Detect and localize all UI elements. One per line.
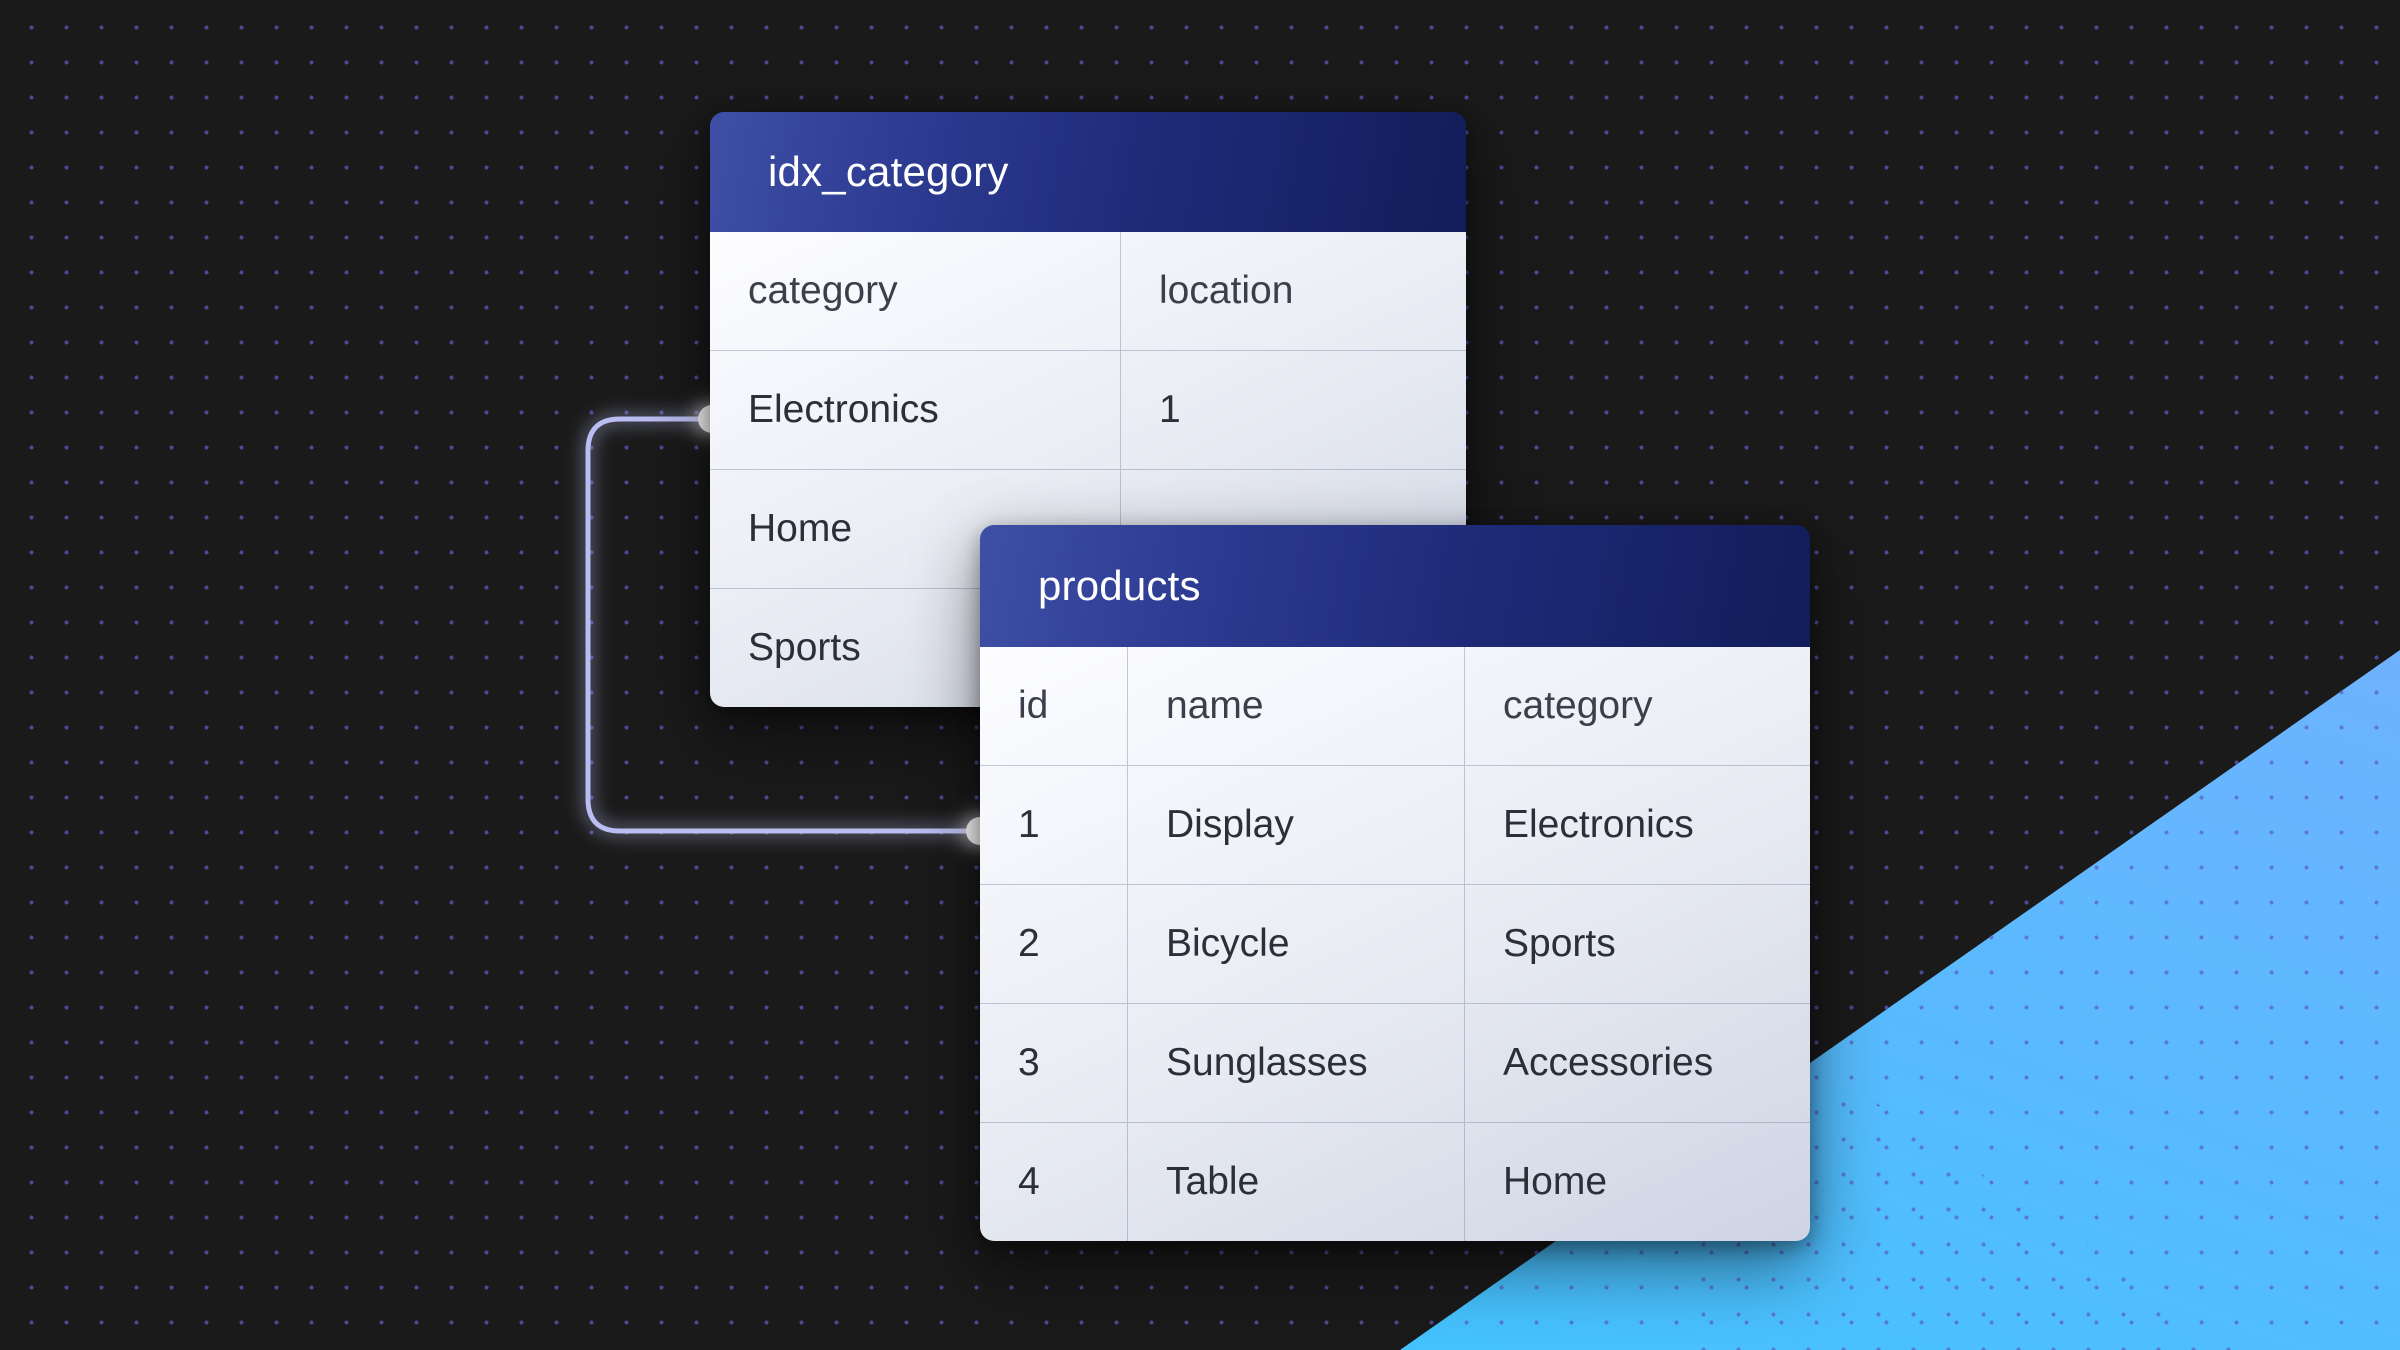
cell-id: 4: [980, 1123, 1127, 1241]
diagram-canvas: idx_category category location Electroni…: [0, 0, 2400, 1350]
table-panel-products[interactable]: products id name category 1 Display Elec…: [980, 525, 1810, 1241]
table-row[interactable]: 1 Display Electronics: [980, 765, 1810, 884]
column-header-id: id: [980, 647, 1127, 765]
cell-id: 1: [980, 766, 1127, 884]
table-header-row: category location: [710, 232, 1466, 350]
cell-name: Bicycle: [1127, 885, 1464, 1003]
table-row[interactable]: 4 Table Home: [980, 1122, 1810, 1241]
panel-title-idx-category: idx_category: [710, 112, 1466, 232]
column-header-location: location: [1120, 232, 1466, 350]
cell-name: Display: [1127, 766, 1464, 884]
cell-id: 2: [980, 885, 1127, 1003]
column-header-category: category: [710, 232, 1120, 350]
cell-category: Accessories: [1464, 1004, 1810, 1122]
column-header-category: category: [1464, 647, 1810, 765]
cell-name: Table: [1127, 1123, 1464, 1241]
cell-category: Home: [1464, 1123, 1810, 1241]
cell-category: Sports: [1464, 885, 1810, 1003]
column-header-name: name: [1127, 647, 1464, 765]
cell-name: Sunglasses: [1127, 1004, 1464, 1122]
table-row[interactable]: Electronics 1: [710, 350, 1466, 469]
cell-category: Electronics: [1464, 766, 1810, 884]
products-table-body: id name category 1 Display Electronics 2…: [980, 647, 1810, 1241]
cell-category: Electronics: [710, 351, 1120, 469]
cell-location: 1: [1120, 351, 1466, 469]
table-row[interactable]: 2 Bicycle Sports: [980, 884, 1810, 1003]
panel-title-products: products: [980, 525, 1810, 647]
cell-id: 3: [980, 1004, 1127, 1122]
table-row[interactable]: 3 Sunglasses Accessories: [980, 1003, 1810, 1122]
table-header-row: id name category: [980, 647, 1810, 765]
